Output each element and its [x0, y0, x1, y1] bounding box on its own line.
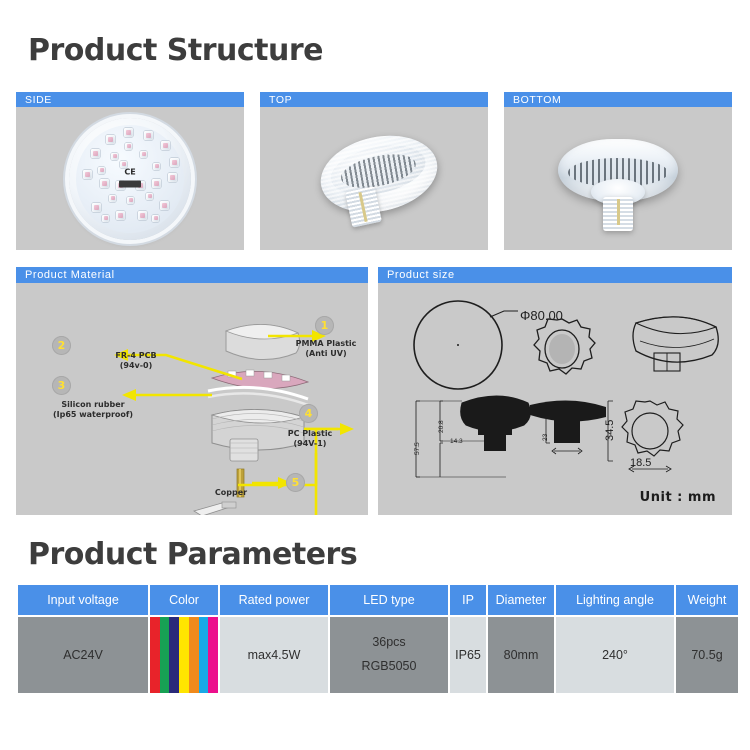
material-label-3: Silicon rubber (Ip65 waterproof) [34, 400, 152, 420]
material-label-4: PC Plastic (94V-1) [264, 429, 356, 449]
value-weight: 70.5g [676, 617, 738, 693]
product-spec-sheet: Product Structure SIDE [0, 0, 750, 750]
lamp-top-view [313, 126, 444, 223]
panel-image-top [260, 107, 488, 250]
header-input-voltage: Input voltage [18, 585, 148, 615]
ce-mark-icon: CE [124, 168, 135, 177]
front-section-drawing [530, 400, 606, 454]
side-section-drawing [416, 396, 530, 477]
header-ip: IP [450, 585, 486, 615]
header-led-type: LED type [330, 585, 448, 615]
color-swatch-1 [150, 617, 160, 693]
material-label-2: FR-4 PCB (94v-0) [94, 351, 178, 371]
color-swatch-7 [208, 617, 218, 693]
panel-caption-top: TOP [260, 92, 488, 107]
panel-caption-material: Product Material [16, 267, 368, 283]
value-led-type: 36pcs RGB5050 [330, 617, 448, 693]
product-parameters-title: Product Parameters [28, 537, 357, 572]
value-lighting-angle: 240° [556, 617, 674, 693]
lamp-screw-base-bottom [603, 197, 633, 231]
material-callout-1: 1 [315, 316, 334, 335]
header-rated-power: Rated power [220, 585, 328, 615]
color-swatch-2 [160, 617, 170, 693]
panel-caption-top-label: TOP [269, 94, 292, 106]
material-callout-5: 5 [286, 473, 305, 492]
silicon-ring-part [208, 387, 308, 405]
panel-caption-side: SIDE [16, 92, 244, 107]
panel-image-side: CE [16, 107, 244, 250]
value-rated-power: max4.5W [220, 617, 328, 693]
value-ip: IP65 [450, 617, 486, 693]
unit-note: Unit : mm [640, 490, 716, 505]
panel-image-bottom [504, 107, 732, 250]
color-swatch-strip [150, 617, 218, 693]
material-callout-4: 4 [299, 404, 318, 423]
material-exploded-diagram [16, 283, 368, 515]
parameters-table: Input voltage Color Rated power LED type… [16, 583, 740, 695]
panel-caption-material-label: Product Material [25, 269, 115, 281]
header-lighting-angle: Lighting angle [556, 585, 674, 615]
material-callout-2: 2 [52, 336, 71, 355]
ribbed-ring-drawing [534, 319, 595, 374]
header-color: Color [150, 585, 218, 615]
led-board-inner: CE [76, 125, 184, 233]
parameters-data-row: AC24V max4.5W 36pcs RGB5050 IP65 80mm 24… [18, 617, 738, 693]
diameter-dimension-label: Φ80.00 [520, 308, 563, 323]
dimension-34-5: 34.5 [604, 420, 616, 441]
color-swatch-6 [199, 617, 209, 693]
panel-caption-size-label: Product size [387, 269, 455, 281]
lamp-isometric-drawing [633, 317, 718, 371]
panel-image-material: 1 PMMA Plastic (Anti UV) 2 FR-4 PCB (94v… [16, 283, 368, 515]
dimension-18-5: 18.5 [630, 457, 651, 469]
header-diameter: Diameter [488, 585, 554, 615]
wire-connector-part [194, 502, 236, 515]
panel-caption-size: Product size [378, 267, 732, 283]
value-input-voltage: AC24V [18, 617, 148, 693]
panel-caption-bottom-label: BOTTOM [513, 94, 561, 106]
dimension-57-5: 57.5 [414, 442, 421, 455]
dimension-14-3: 14.3 [450, 438, 463, 445]
product-structure-title: Product Structure [28, 33, 323, 68]
parameters-header-row: Input voltage Color Rated power LED type… [18, 585, 738, 615]
value-led-type-model: RGB5050 [332, 655, 446, 679]
lamp-bottom-view [558, 139, 678, 201]
value-diameter: 80mm [488, 617, 554, 693]
panel-caption-side-label: SIDE [25, 94, 52, 106]
dimension-23: 23 [542, 434, 549, 441]
color-swatch-5 [189, 617, 199, 693]
value-led-type-count: 36pcs [332, 631, 446, 655]
dimension-20-8: 20.8 [438, 420, 445, 433]
color-swatch-4 [179, 617, 189, 693]
led-board-face: CE [69, 118, 191, 240]
material-label-5: Copper [194, 488, 268, 498]
value-color-swatches [150, 617, 218, 693]
color-swatch-3 [169, 617, 179, 693]
driver-chip [119, 180, 141, 187]
panel-image-size: Φ80.00 57.5 20.8 14.3 23 18.5 34.5 Unit … [378, 283, 732, 515]
lamp-screw-base [345, 186, 382, 227]
material-label-1: PMMA Plastic (Anti UV) [278, 339, 368, 359]
material-callout-3: 3 [52, 376, 71, 395]
panel-caption-bottom: BOTTOM [504, 92, 732, 107]
header-weight: Weight [676, 585, 738, 615]
